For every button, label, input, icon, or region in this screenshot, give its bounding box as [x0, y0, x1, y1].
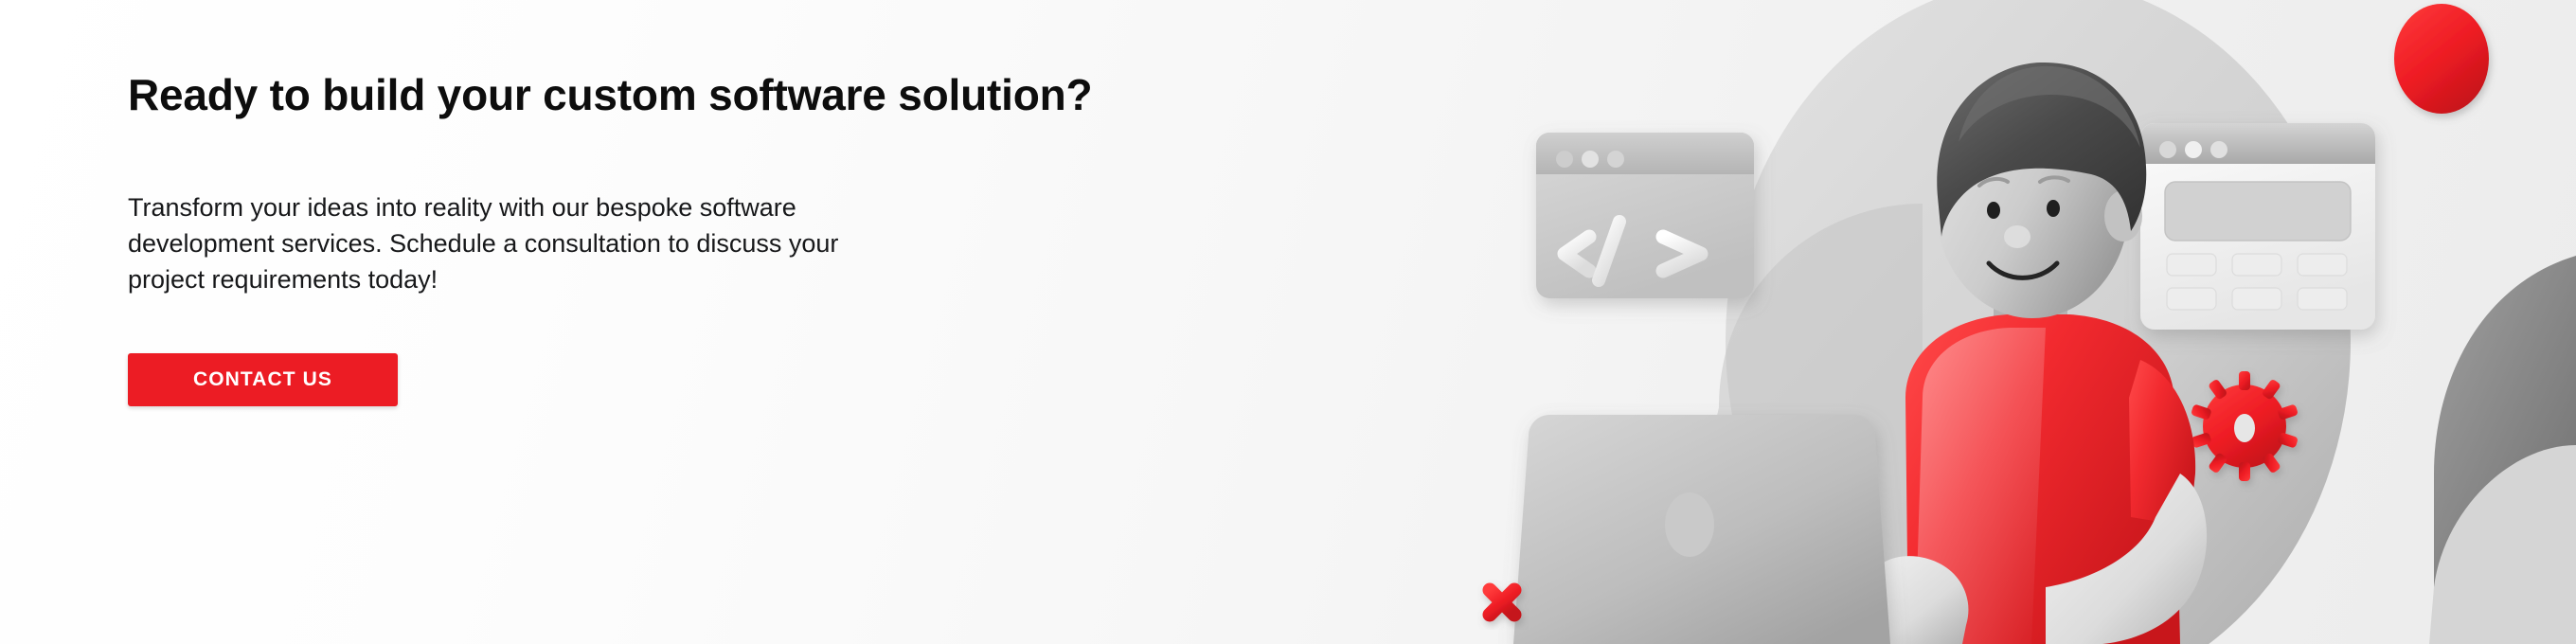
cta-banner: Ready to build your custom software solu… [0, 0, 2576, 644]
cta-description-line-2: development services. Schedule a consult… [128, 225, 1444, 261]
code-window-icon [1536, 133, 1754, 298]
page-title: Ready to build your custom software solu… [128, 71, 1548, 120]
calculator-window-icon [2140, 123, 2375, 330]
cta-button-row: CONTACT US [128, 353, 1548, 406]
cta-description-line-1: Transform your ideas into reality with o… [128, 189, 1444, 225]
contact-us-button[interactable]: CONTACT US [128, 353, 398, 406]
laptop-icon [1513, 415, 1890, 644]
hero-illustration [1477, 0, 2576, 644]
red-ellipse-shape [2394, 4, 2489, 114]
cta-description-line-3: project requirements today! [128, 261, 1444, 297]
cta-content: Ready to build your custom software solu… [128, 0, 1548, 644]
cta-description: Transform your ideas into reality with o… [128, 189, 1444, 298]
